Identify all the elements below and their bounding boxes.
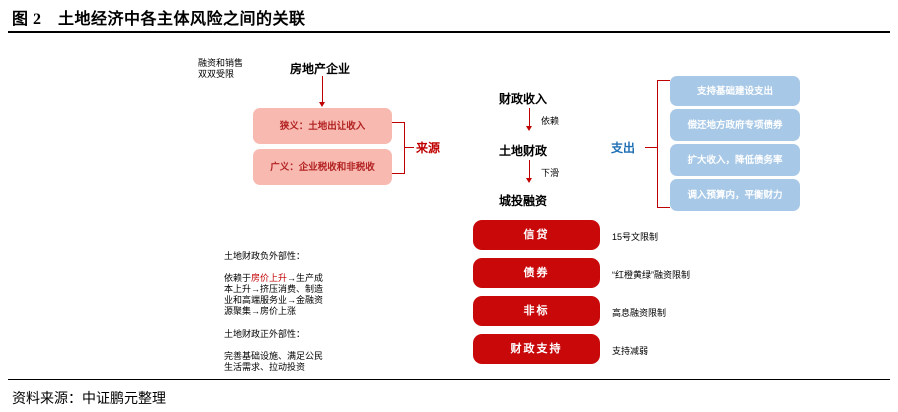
arrow-head-land-finance-to-lgfv [526, 178, 532, 183]
arrow-head-enterprise-to-land [319, 102, 325, 107]
expenditure-bracket [657, 80, 670, 208]
channel-constraint-fiscal-support: 支持减弱 [612, 344, 648, 357]
land-finance-heading: 土地财政 [499, 142, 547, 159]
channel-box-fiscal-support: 财政支持 [473, 334, 600, 364]
title-divider [8, 31, 890, 33]
figure-title: 图 2 土地经济中各主体风险之间的关联 [12, 5, 306, 29]
expenditure-bracket-stem [645, 147, 657, 148]
expenditure-box-special-bonds: 偿还地方政府专项债券 [670, 109, 800, 141]
expenditure-box-budget-balance: 调入预算内，平衡财力 [670, 179, 800, 211]
land-revenue-narrow-box: 狭义：土地出让收入 [253, 108, 392, 144]
positive-externality-body: 完善基础设施、满足公民 生活需求、拉动投资 [224, 351, 323, 372]
positive-externality-title: 土地财政正外部性： [224, 329, 305, 339]
channel-label-nonstandard: 非标 [524, 306, 550, 317]
land-revenue-broad-label: 广义：企业税收和非税收 [270, 162, 375, 173]
source-bracket-stem [404, 147, 414, 148]
expenditure-label-special-bonds: 偿还地方政府专项债券 [687, 120, 782, 131]
channel-box-bond: 债券 [473, 258, 600, 288]
channel-constraint-bond: “红橙黄绿”融资限制 [612, 268, 690, 281]
lgfv-financing-heading: 城投融资 [499, 192, 547, 209]
expenditure-label-budget-balance: 调入预算内，平衡财力 [687, 190, 782, 201]
arrow-line-land-finance-to-lgfv [529, 160, 530, 180]
negative-externality-body-pre: 依赖于 [224, 273, 251, 283]
financing-sales-annotation: 融资和销售 双双受限 [198, 58, 260, 80]
positive-externality-note: 土地财政正外部性： 完善基础设施、满足公民 生活需求、拉动投资 [224, 318, 384, 373]
channel-constraint-credit: 15号文限制 [612, 230, 658, 243]
negative-externality-title: 土地财政负外部性： [224, 251, 305, 261]
land-revenue-narrow-label: 狭义：土地出让收入 [280, 121, 366, 132]
negative-externality-highlight: 房价上升 [251, 273, 287, 283]
title-bar: 图 2 土地经济中各主体风险之间的关联 [0, 0, 898, 34]
land-revenue-broad-box: 广义：企业税收和非税收 [253, 149, 392, 185]
channel-label-fiscal-support: 财政支持 [511, 344, 563, 355]
figure-container: 图 2 土地经济中各主体风险之间的关联 融资和销售 双双受限 房地产企业 狭义：… [0, 0, 898, 412]
real-estate-enterprise-heading: 房地产企业 [290, 60, 350, 77]
arrow-head-revenue-to-land-finance [526, 126, 532, 131]
channel-label-credit: 信贷 [524, 230, 550, 241]
expenditure-box-infrastructure: 支持基础建设支出 [670, 76, 800, 106]
source-note: 资料来源：中证鹏元整理 [12, 388, 166, 408]
channel-box-nonstandard: 非标 [473, 296, 600, 326]
fiscal-revenue-heading: 财政收入 [499, 90, 547, 107]
arrow-line-revenue-to-land-finance [529, 108, 530, 128]
channel-constraint-nonstandard: 高息融资限制 [612, 306, 666, 319]
arrow-line-enterprise-to-land [322, 76, 323, 104]
channel-label-bond: 债券 [524, 268, 550, 279]
source-bracket [392, 122, 405, 174]
channel-box-credit: 信贷 [473, 220, 600, 250]
footer-divider [8, 379, 890, 380]
source-bracket-label: 来源 [416, 139, 440, 156]
expenditure-label-expand-revenue: 扩大收入，降低债务率 [687, 155, 782, 166]
expenditure-box-expand-revenue: 扩大收入，降低债务率 [670, 144, 800, 176]
arrow-label-dependency: 依赖 [541, 114, 559, 127]
expenditure-label-infrastructure: 支持基础建设支出 [697, 86, 773, 97]
arrow-label-decline: 下滑 [541, 166, 559, 179]
negative-externality-note: 土地财政负外部性： 依赖于房价上升→生产成 本上升→挤压消费、制造 业和高端服务… [224, 240, 384, 317]
expenditure-bracket-label: 支出 [611, 139, 635, 156]
